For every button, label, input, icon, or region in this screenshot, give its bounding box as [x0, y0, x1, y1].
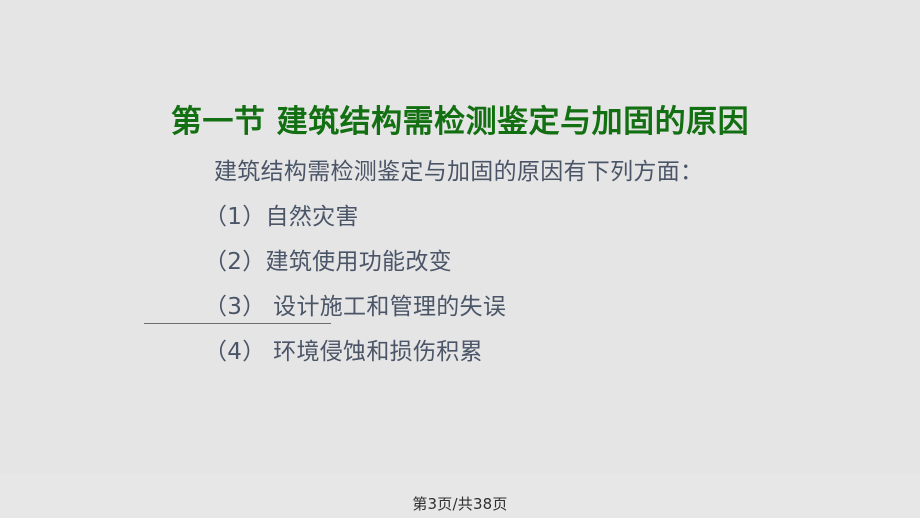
body-list-item-1: （1）自然灾害 — [196, 195, 836, 240]
body-list-item-2: （2）建筑使用功能改变 — [196, 240, 836, 285]
presentation-slide: 第一节 建筑结构需检测鉴定与加固的原因 建筑结构需检测鉴定与加固的原因有下列方面… — [0, 0, 920, 518]
page-indicator: 第3页/共38页 — [0, 494, 920, 514]
body-list-item-4: （4） 环境侵蚀和损伤积累 — [196, 330, 836, 375]
horizontal-rule — [144, 323, 331, 324]
slide-title: 第一节 建筑结构需检测鉴定与加固的原因 — [0, 101, 920, 143]
slide-body: 建筑结构需检测鉴定与加固的原因有下列方面： （1）自然灾害 （2）建筑使用功能改… — [196, 150, 836, 375]
body-intro-line: 建筑结构需检测鉴定与加固的原因有下列方面： — [196, 150, 836, 195]
